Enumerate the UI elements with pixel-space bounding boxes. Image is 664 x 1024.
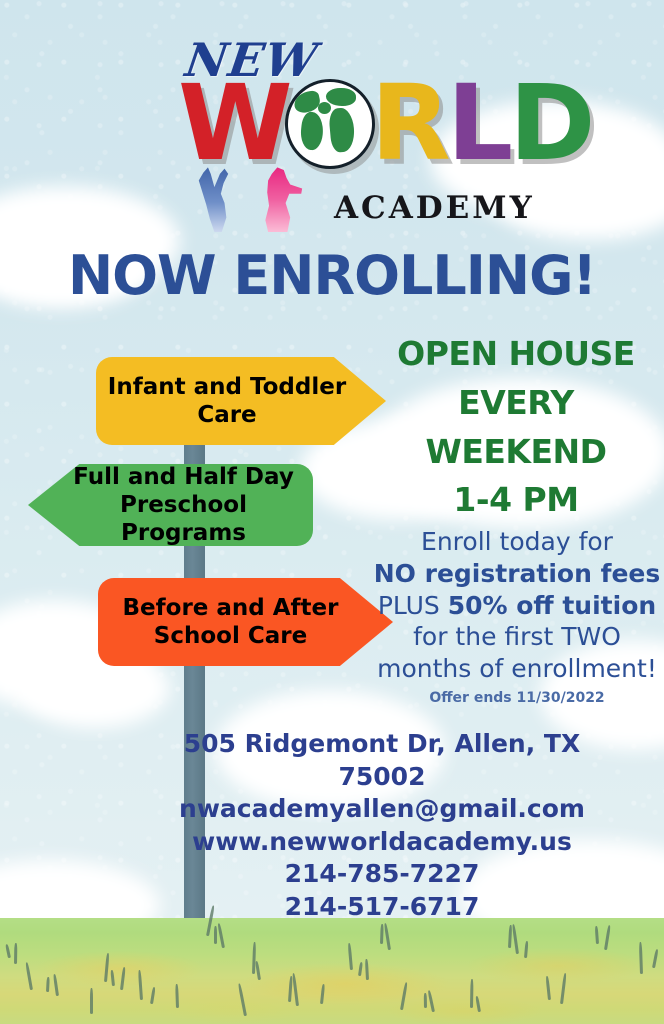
offer-line-4: for the first TWO bbox=[372, 621, 662, 653]
logo-letter-w: W bbox=[178, 73, 289, 173]
logo-letter-d: D bbox=[509, 73, 591, 173]
flyer-poster: NEW W R L D ACADEMY NOW ENROLLING! Infan… bbox=[0, 0, 664, 1024]
sign-line-1: Full and Half Day bbox=[73, 464, 294, 490]
offer-block: Enroll today for NO registration fees PL… bbox=[372, 526, 662, 708]
sign-infant-toddler-care: Infant and Toddler Care bbox=[96, 357, 386, 445]
offer-fine-print: Offer ends 11/30/2022 bbox=[372, 690, 662, 708]
academy-logo: NEW W R L D ACADEMY bbox=[0, 0, 664, 232]
offer-discount: 50% off tuition bbox=[448, 591, 656, 620]
grass-blade bbox=[424, 993, 427, 1008]
grass-blade bbox=[90, 988, 93, 1014]
contact-website[interactable]: www.newworldacademy.us bbox=[172, 826, 592, 859]
contact-address-line-1: 505 Ridgemont Dr, Allen, TX bbox=[172, 728, 592, 761]
grass-blade bbox=[214, 926, 217, 944]
open-house-line-3: WEEKEND bbox=[372, 428, 660, 477]
sign-line-2: School Care bbox=[154, 623, 307, 649]
offer-plus-prefix: PLUS bbox=[378, 591, 448, 620]
grass-blade bbox=[470, 979, 474, 1008]
grass-blade bbox=[14, 943, 17, 964]
sign-line-1: Infant and Toddler bbox=[108, 374, 346, 400]
sign-preschool-programs: Full and Half Day Preschool Programs bbox=[28, 464, 313, 546]
contact-phone-1[interactable]: 214-785-7227 bbox=[172, 858, 592, 891]
sign-line-2: Preschool Programs bbox=[120, 492, 247, 546]
logo-word-world: W R L D bbox=[178, 73, 591, 173]
open-house-line-4: 1-4 PM bbox=[372, 476, 660, 525]
logo-letter-l: L bbox=[447, 73, 509, 173]
sign-line-1: Before and After bbox=[123, 595, 339, 621]
contact-address-line-2: 75002 bbox=[172, 761, 592, 794]
offer-no-registration-fees: NO registration fees bbox=[374, 559, 661, 588]
globe-icon bbox=[285, 79, 375, 169]
page-title: NOW ENROLLING! bbox=[0, 244, 664, 307]
open-house-line-2: EVERY bbox=[372, 379, 660, 428]
sign-before-after-school-care: Before and After School Care bbox=[98, 578, 393, 666]
logo-letter-r: R bbox=[371, 73, 447, 173]
logo-word-academy: ACADEMY bbox=[334, 190, 535, 226]
offer-line-1: Enroll today for bbox=[372, 526, 662, 558]
sign-line-2: Care bbox=[197, 402, 256, 428]
grass-foreground bbox=[0, 918, 664, 1024]
open-house-line-1: OPEN HOUSE bbox=[372, 330, 660, 379]
offer-line-5: months of enrollment! bbox=[372, 653, 662, 685]
contact-block: 505 Ridgemont Dr, Allen, TX 75002 nwacad… bbox=[172, 728, 592, 923]
open-house-block: OPEN HOUSE EVERY WEEKEND 1-4 PM bbox=[372, 330, 660, 525]
contact-email[interactable]: nwacademyallen@gmail.com bbox=[172, 793, 592, 826]
